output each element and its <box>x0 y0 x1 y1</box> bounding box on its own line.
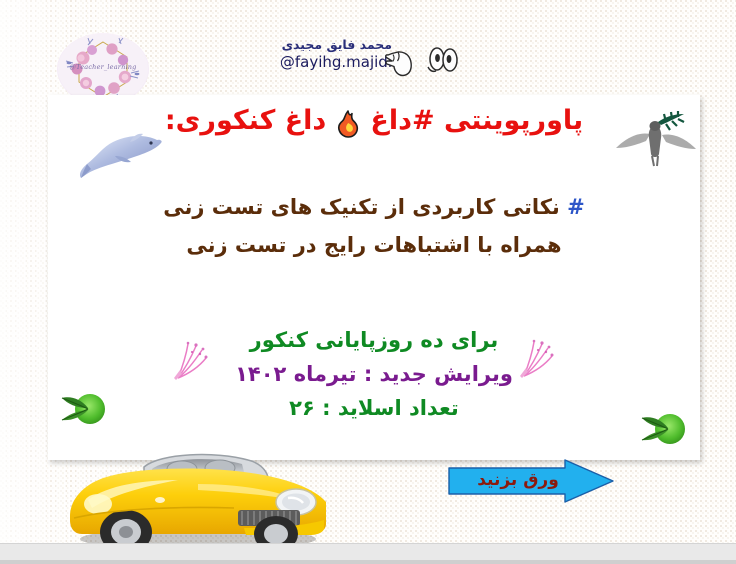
author-block: محمد فایق مجیدی @fayihg.majidi <box>252 36 392 72</box>
card-details-block: برای ده روزپایانی کنکور ویرایش جدید : تی… <box>48 323 700 425</box>
author-name: محمد فایق مجیدی <box>252 36 392 53</box>
card-title-part2: داغ کنکوری: <box>165 105 326 136</box>
yellow-car-icon <box>48 440 328 555</box>
eyes-icon <box>425 44 459 84</box>
card-detail-line3: تعداد اسلاید : ۲۶ <box>48 391 700 425</box>
hashtag-symbol: # <box>567 195 585 219</box>
fire-icon <box>326 109 361 138</box>
logo-text: @Teacher_learning <box>57 63 149 71</box>
green-leaf-right-icon <box>640 408 698 450</box>
dove-icon <box>608 108 704 172</box>
next-slide-label[interactable]: ورق بزنید <box>463 470 573 490</box>
card-detail-line2: ویرایش جدید : تیرماه ۱۴۰۲ <box>48 357 700 391</box>
pointing-down-hand-icon <box>382 42 418 83</box>
window-bottom-edge <box>0 560 736 564</box>
slide-page: @Teacher_learning محمد فایق مجیدی @fayih… <box>0 0 736 564</box>
author-handle: @fayihg.majidi <box>252 53 392 72</box>
card-subtitle-line1-text: نکاتی کاربردی از تکنیک های تست زنی <box>163 195 560 219</box>
card-title-part1: پاورپوینتی #داغ <box>370 105 583 136</box>
dolphin-icon <box>75 126 167 184</box>
card-subtitle-line1: # نکاتی کاربردی از تکنیک های تست زنی <box>48 188 700 226</box>
card-subtitle-line2: همراه با اشتباهات رایج در تست زنی <box>48 226 700 264</box>
party-popper-left-icon <box>172 340 210 391</box>
party-popper-right-icon <box>518 338 556 389</box>
card-subtitle-block: # نکاتی کاربردی از تکنیک های تست زنی همر… <box>48 188 700 264</box>
card-detail-line1: برای ده روزپایانی کنکور <box>48 323 700 357</box>
green-leaf-left-icon <box>58 388 116 430</box>
